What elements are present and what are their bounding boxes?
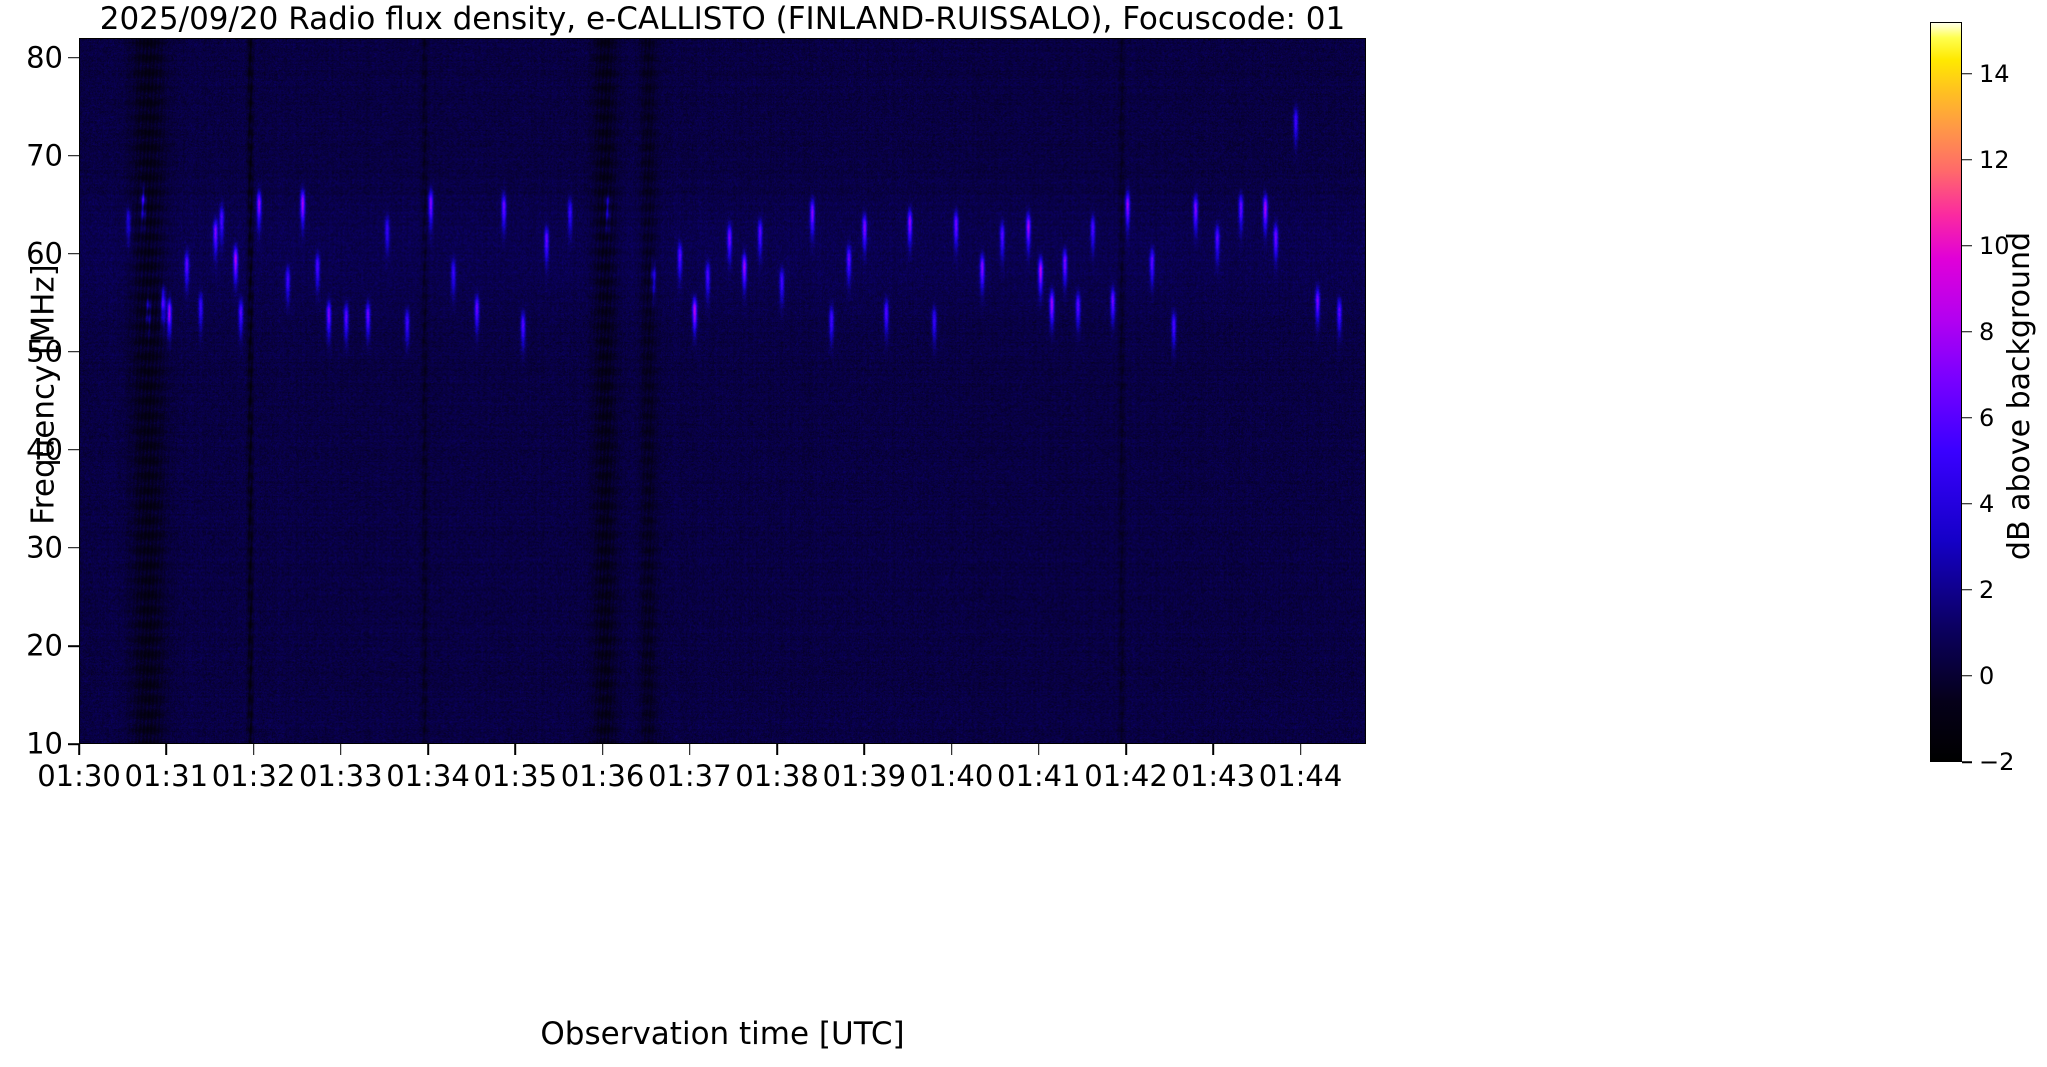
y-axis-title-wrap: Frequency [MHz] [14, 40, 48, 740]
colorbar-tick-mark [1962, 417, 1972, 419]
spectrogram-heatmap[interactable] [80, 39, 1365, 743]
x-tick-label: 01:33 [299, 762, 383, 791]
x-tick-label: 01:31 [124, 762, 208, 791]
colorbar-gradient [1931, 23, 1961, 761]
x-tick-label: 01:32 [212, 762, 296, 791]
colorbar-tick-mark [1962, 159, 1972, 161]
colorbar-tick-label: 2 [1979, 578, 1994, 602]
y-tick-mark [68, 253, 79, 255]
y-tick-mark [68, 645, 79, 647]
x-tick-label: 01:37 [648, 762, 732, 791]
x-tick-mark [776, 744, 778, 755]
colorbar-tick-mark [1962, 503, 1972, 505]
colorbar-title: dB above background [2004, 116, 2036, 676]
y-tick-mark [68, 57, 79, 59]
x-tick-mark [165, 744, 167, 755]
x-tick-label: 01:39 [822, 762, 906, 791]
x-tick-label: 01:44 [1259, 762, 1343, 791]
x-tick-mark [1300, 744, 1302, 755]
colorbar-tick-mark [1962, 245, 1972, 247]
x-tick-mark [253, 744, 255, 755]
x-tick-label: 01:34 [386, 762, 470, 791]
y-tick-mark [68, 351, 79, 353]
x-tick-mark [340, 744, 342, 755]
x-tick-label: 01:43 [1172, 762, 1256, 791]
x-tick-label: 01:42 [1084, 762, 1168, 791]
x-tick-mark [1125, 744, 1127, 755]
x-tick-mark [951, 744, 953, 755]
x-tick-mark [1038, 744, 1040, 755]
y-tick-mark [68, 547, 79, 549]
colorbar-tick-mark [1962, 675, 1972, 677]
x-tick-label: 01:41 [997, 762, 1081, 791]
x-axis-title: Observation time [UTC] [79, 1017, 1366, 1051]
colorbar-tick-mark [1962, 73, 1972, 75]
colorbar-tick-mark [1962, 589, 1972, 591]
x-tick-label: 01:30 [37, 762, 121, 791]
colorbar-tick-label: −2 [1979, 750, 2014, 774]
y-axis-title: Frequency [MHz] [28, 75, 61, 715]
x-tick-mark [427, 744, 429, 755]
colorbar-tick-label: 6 [1979, 406, 1994, 430]
colorbar-tick-label: 14 [1979, 62, 2010, 86]
x-tick-mark [602, 744, 604, 755]
x-axis-ticks: 01:3001:3101:3201:3301:3401:3501:3601:37… [79, 744, 1366, 804]
colorbar-tick-label: 4 [1979, 492, 1994, 516]
colorbar-tick-mark [1962, 761, 1972, 763]
x-tick-mark [514, 744, 516, 755]
y-tick-mark [68, 449, 79, 451]
x-tick-mark [689, 744, 691, 755]
x-tick-label: 01:40 [910, 762, 994, 791]
chart-title: 2025/09/20 Radio flux density, e-CALLIST… [79, 2, 1366, 36]
colorbar-tick-label: 8 [1979, 320, 1994, 344]
spectrogram-axes[interactable] [79, 38, 1366, 744]
y-tick-mark [68, 155, 79, 157]
x-tick-label: 01:35 [473, 762, 557, 791]
colorbar-title-wrap: dB above background [2000, 120, 2040, 680]
x-tick-label: 01:36 [561, 762, 645, 791]
x-tick-label: 01:38 [735, 762, 819, 791]
colorbar-tick-mark [1962, 331, 1972, 333]
colorbar-tick-label: 0 [1979, 664, 1994, 688]
figure-canvas: 2025/09/20 Radio flux density, e-CALLIST… [0, 0, 2047, 1067]
x-tick-mark [863, 744, 865, 755]
x-tick-mark [1213, 744, 1215, 755]
x-tick-mark [78, 744, 80, 755]
colorbar[interactable] [1930, 22, 1962, 762]
